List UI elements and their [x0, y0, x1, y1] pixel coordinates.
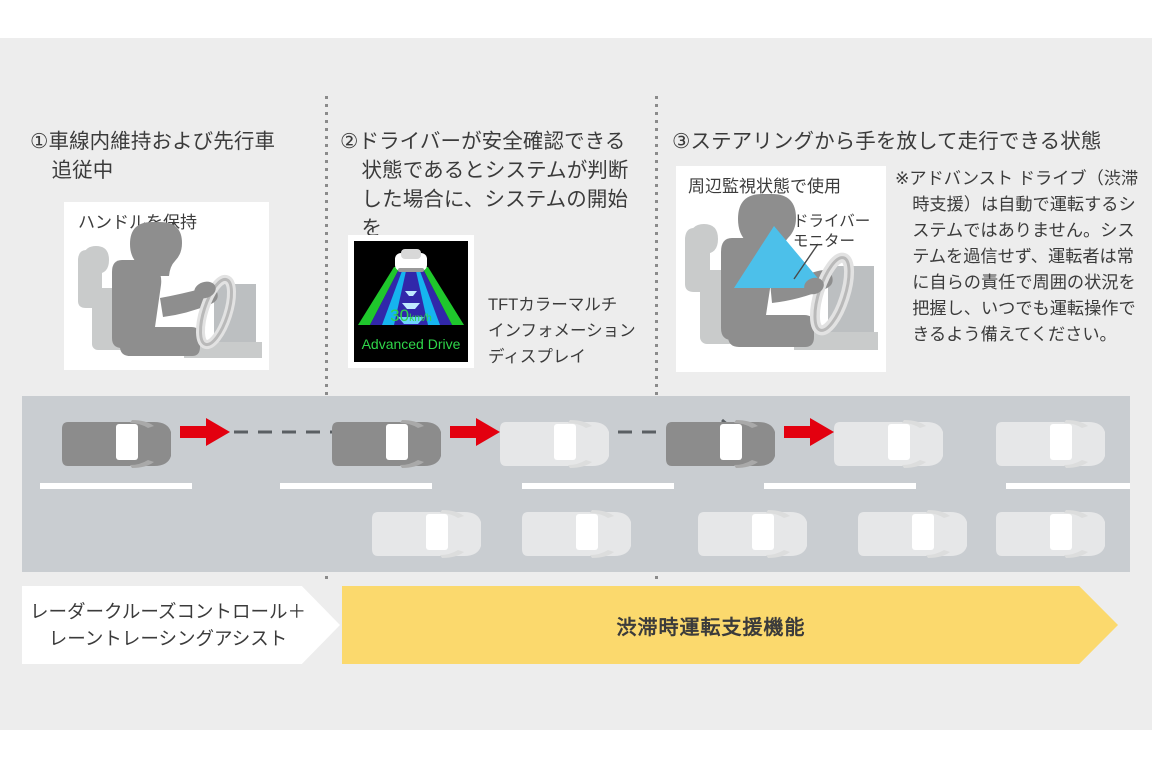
infographic-canvas: ①車線内維持および先行車 追従中 ハンドルを保持: [0, 0, 1152, 768]
traffic-car: [996, 510, 1105, 558]
banner-radar-cruise: レーダークルーズコントロール＋ レーントレーシングアシスト: [22, 586, 340, 664]
traffic-car: [858, 510, 967, 558]
tft-speed-value: 30: [390, 306, 409, 325]
driver-monitor-card: 周辺監視状態で使用: [676, 166, 886, 372]
driver-hands-off-illustration: [676, 166, 886, 372]
traffic-car: [522, 510, 631, 558]
ego-car-2: [332, 420, 441, 468]
traffic-car: [698, 510, 807, 558]
tft-display-card: 30km/h Advanced Drive: [348, 235, 474, 368]
driver-hands-on-card: ハンドルを保持: [64, 202, 269, 370]
tft-speed-readout: 30km/h: [354, 307, 468, 327]
banner-left-label: レーダークルーズコントロール＋ レーントレーシングアシスト: [30, 598, 306, 652]
red-arrow-3: [784, 418, 834, 446]
red-arrow-2: [450, 418, 500, 446]
banner-right-label: 渋滞時運転支援機能: [617, 611, 806, 640]
tft-mode-name: Advanced Drive: [354, 336, 468, 352]
disclaimer-note: ※アドバンスト ドライブ（渋滞時支援）は自動で運転するシステムではありません。シ…: [895, 165, 1142, 347]
road-scene: [22, 396, 1130, 572]
column-3-heading-text: ③ステアリングから手を放して走行できる状態: [672, 127, 1112, 156]
road-vehicles-layer: [22, 396, 1130, 572]
tft-display-caption: TFTカラーマルチ インフォメーション ディスプレイ: [488, 292, 648, 370]
banner-traffic-jam-assist: 渋滞時運転支援機能: [342, 586, 1118, 664]
ego-car-1: [62, 420, 171, 468]
bottom-white-band: [0, 730, 1152, 768]
ego-car-3: [666, 420, 775, 468]
traffic-car: [834, 420, 943, 468]
traffic-car: [372, 510, 481, 558]
lead-car-2: [500, 420, 609, 468]
tft-speed-unit: km/h: [409, 312, 432, 324]
red-arrow-1: [180, 418, 230, 446]
driver-hands-on-illustration: [64, 202, 269, 370]
driver-monitor-callout-label: ドライバー モニター: [793, 212, 870, 252]
tft-screen: 30km/h Advanced Drive: [354, 241, 468, 362]
column-1-heading: ①車線内維持および先行車 追従中: [30, 98, 320, 214]
top-white-band: [0, 0, 1152, 38]
column-1-heading-text: ①車線内維持および先行車 追従中: [30, 127, 320, 185]
traffic-car: [996, 420, 1105, 468]
